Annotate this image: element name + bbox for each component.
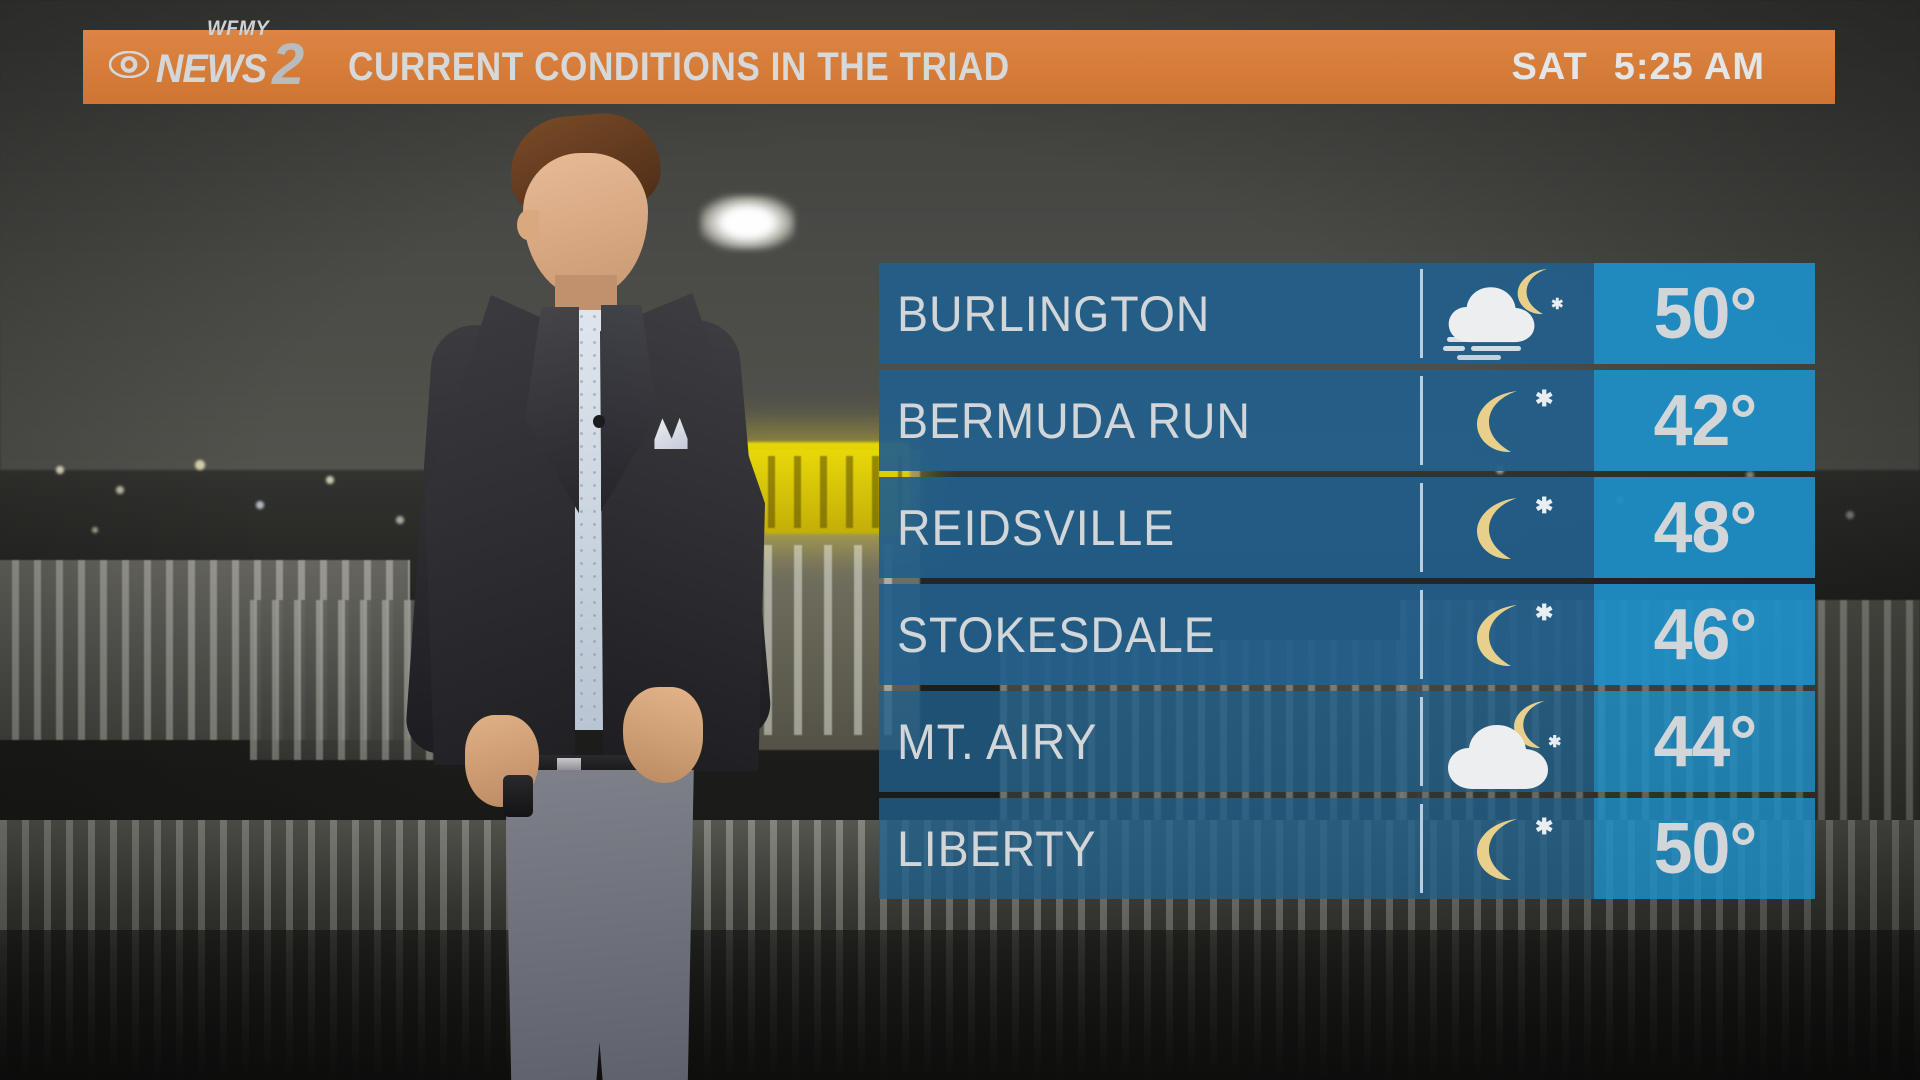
city-name: MT. AIRY [897, 713, 1097, 771]
city-cell: BURLINGTON [879, 263, 1420, 364]
star-icon: ✱ [1551, 297, 1564, 312]
table-row[interactable]: BERMUDA RUN ✱ 42° [879, 370, 1815, 471]
city-name: REIDSVILLE [897, 499, 1175, 557]
table-row[interactable]: REIDSVILLE ✱ 48° [879, 477, 1815, 578]
city-cell: LIBERTY [879, 798, 1420, 899]
temperature-cell: 50° [1594, 263, 1815, 364]
crescent-moon-star-icon: ✱ [1447, 592, 1567, 678]
ear [517, 210, 539, 240]
city-name: STOKESDALE [897, 606, 1216, 664]
crescent-moon-star-icon: ✱ [1447, 378, 1567, 464]
star-icon: ✱ [1548, 735, 1561, 751]
temperature-value: 50° [1653, 808, 1756, 890]
temperature-value: 44° [1653, 701, 1756, 783]
current-conditions-table: BURLINGTON ✱ 50° BERMUDA RUN ✱ [879, 263, 1815, 899]
foreground-shadow [0, 930, 1920, 1080]
crescent-moon-icon [1471, 493, 1527, 563]
temperature-cell: 46° [1594, 584, 1815, 685]
table-row[interactable]: MT. AIRY ✱ 44° [879, 691, 1815, 792]
condition-icon-cell: ✱ [1420, 263, 1594, 364]
city-cell: BERMUDA RUN [879, 370, 1420, 471]
condition-icon-cell: ✱ [1420, 691, 1594, 792]
table-row[interactable]: STOKESDALE ✱ 46° [879, 584, 1815, 685]
station-wordmark: WFMY NEWS 2 [153, 41, 304, 89]
remote-clicker [503, 775, 533, 817]
temperature-cell: 42° [1594, 370, 1815, 471]
star-icon: ✱ [1535, 602, 1553, 624]
city-name: LIBERTY [897, 820, 1096, 878]
condition-icon-cell: ✱ [1420, 477, 1594, 578]
temperature-cell: 48° [1594, 477, 1815, 578]
cloud-moon-icon: ✱ [1447, 699, 1567, 785]
temperature-value: 48° [1653, 487, 1756, 569]
header-banner: WFMY NEWS 2 CURRENT CONDITIONS IN THE TR… [83, 30, 1835, 104]
cloud-icon [1443, 713, 1561, 797]
haze-lines-icon [1441, 335, 1527, 366]
meteorologist [405, 115, 785, 1080]
temperature-value: 42° [1653, 380, 1756, 462]
station-logo: WFMY NEWS 2 [109, 30, 304, 104]
crescent-moon-icon [1471, 386, 1527, 456]
condition-icon-cell: ✱ [1420, 370, 1594, 471]
temperature-cell: 44° [1594, 691, 1815, 792]
temperature-cell: 50° [1594, 798, 1815, 899]
time-label: 5:25 AM [1614, 46, 1765, 89]
day-label: SAT [1512, 46, 1588, 89]
city-cell: MT. AIRY [879, 691, 1420, 792]
crescent-moon-star-icon: ✱ [1447, 485, 1567, 571]
station-channel-number: 2 [272, 41, 304, 89]
city-cell: STOKESDALE [879, 584, 1420, 685]
condition-icon-cell: ✱ [1420, 584, 1594, 685]
crescent-moon-icon [1471, 814, 1527, 884]
table-row[interactable]: BURLINGTON ✱ 50° [879, 263, 1815, 364]
station-callsign: WFMY [207, 17, 269, 41]
temperature-value: 46° [1653, 594, 1756, 676]
lapel-microphone-icon [593, 415, 605, 428]
page-title: CURRENT CONDITIONS IN THE TRIAD [348, 45, 1010, 90]
condition-icon-cell: ✱ [1420, 798, 1594, 899]
station-brand: NEWS [156, 50, 266, 88]
city-name: BURLINGTON [897, 285, 1210, 343]
right-hand [623, 687, 703, 783]
broadcast-screen: WFMY NEWS 2 CURRENT CONDITIONS IN THE TR… [0, 0, 1920, 1080]
table-row[interactable]: LIBERTY ✱ 50° [879, 798, 1815, 899]
temperature-value: 50° [1653, 273, 1756, 355]
city-cell: REIDSVILLE [879, 477, 1420, 578]
clock-readout: SAT 5:25 AM [1512, 46, 1766, 89]
star-icon: ✱ [1535, 495, 1553, 517]
crescent-moon-star-icon: ✱ [1447, 806, 1567, 892]
crescent-moon-icon [1471, 600, 1527, 670]
city-name: BERMUDA RUN [897, 392, 1251, 450]
star-icon: ✱ [1535, 816, 1553, 838]
star-icon: ✱ [1535, 388, 1553, 410]
cloud-moon-haze-icon: ✱ [1447, 271, 1567, 357]
cbs-eye-icon [109, 51, 149, 78]
